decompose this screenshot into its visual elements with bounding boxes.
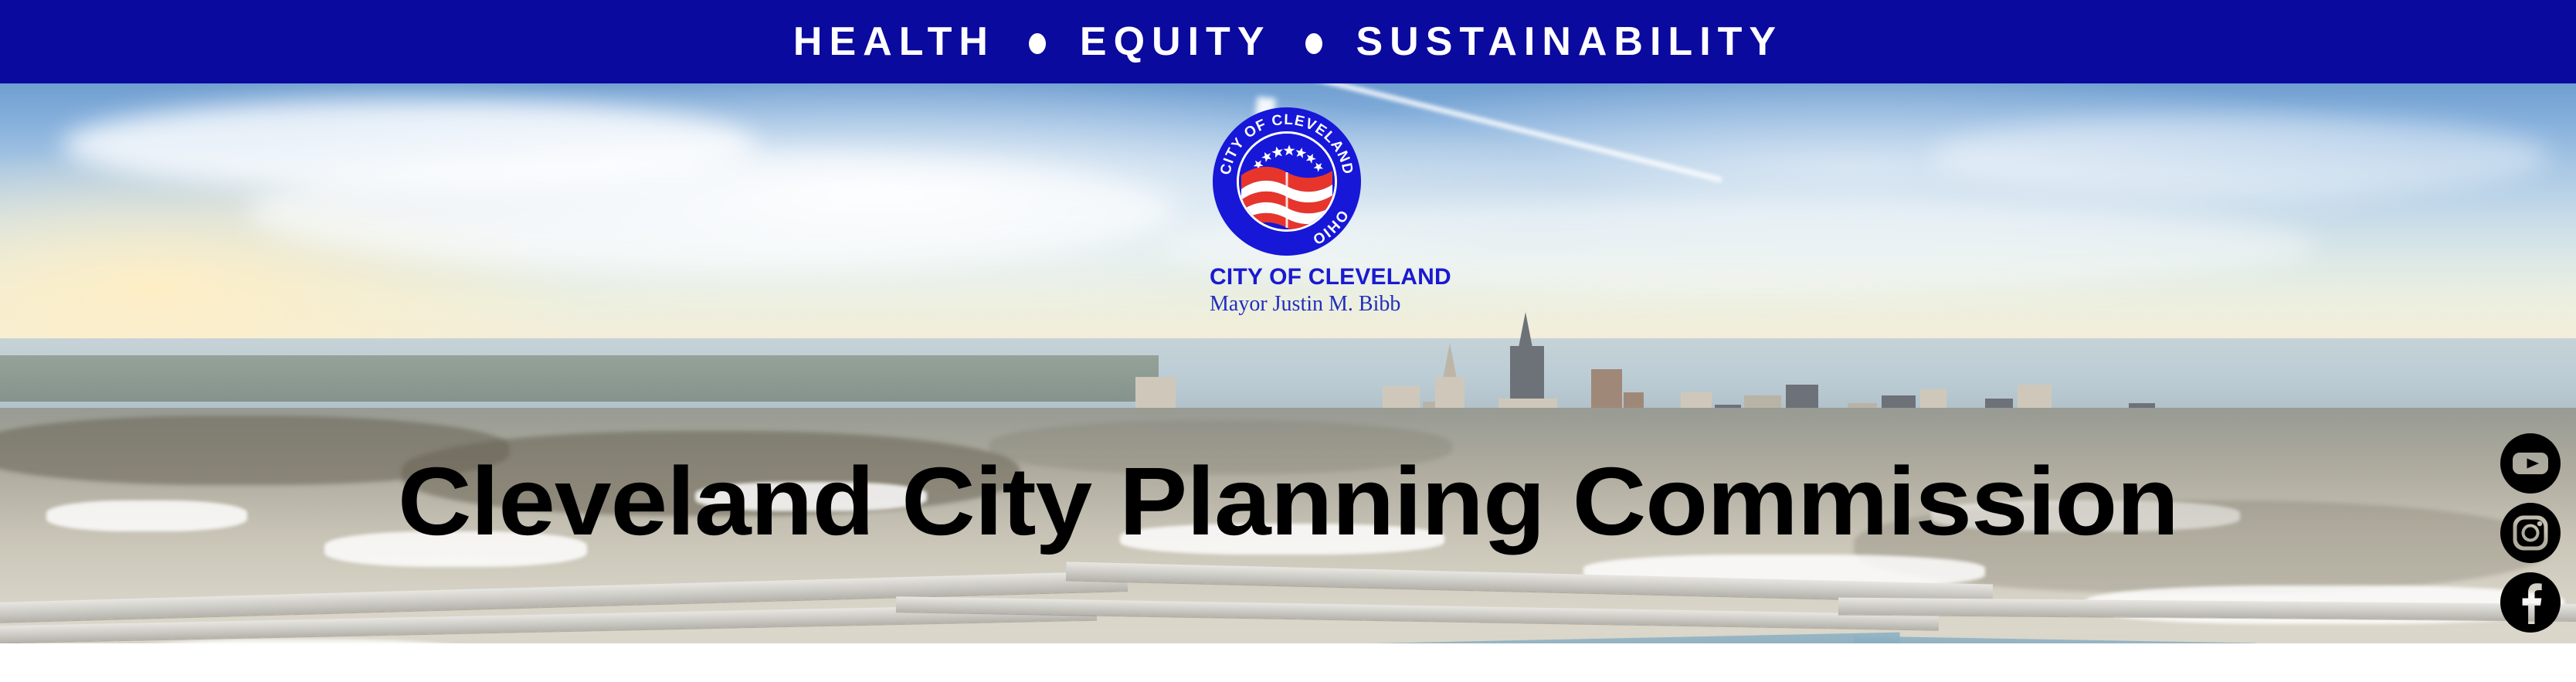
facebook-link[interactable] bbox=[2500, 572, 2561, 633]
page-title: Cleveland City Planning Commission bbox=[0, 453, 2576, 550]
youtube-link[interactable] bbox=[2500, 433, 2561, 494]
tagline-dot-icon bbox=[1305, 33, 1322, 54]
city-of-cleveland-seal-icon: CITY OF CLEVELAND OHIO bbox=[1210, 104, 1364, 259]
mayor-name: Mayor Justin M. Bibb bbox=[1210, 293, 1364, 315]
tagline-word-health: HEALTH bbox=[792, 22, 996, 62]
social-links bbox=[2500, 433, 2563, 641]
page-root: HEALTH EQUITY SUSTAINABILITY bbox=[0, 0, 2576, 682]
city-branding: CITY OF CLEVELAND OHIO CITY OF CLEVELAND… bbox=[1210, 104, 1364, 315]
cloud bbox=[247, 153, 1174, 269]
tagline-banner: HEALTH EQUITY SUSTAINABILITY bbox=[0, 0, 2576, 83]
organization-name: CITY OF CLEVELAND bbox=[1210, 265, 1364, 290]
footer-whitespace bbox=[0, 643, 2576, 682]
tagline-word-equity: EQUITY bbox=[1078, 22, 1273, 62]
tagline-dot-icon bbox=[1029, 33, 1046, 54]
instagram-link[interactable] bbox=[2500, 502, 2561, 564]
tagline-word-sustainability: SUSTAINABILITY bbox=[1355, 22, 1785, 62]
hero-photo: CITY OF CLEVELAND OHIO CITY OF CLEVELAND… bbox=[0, 83, 2576, 643]
tagline-text: HEALTH EQUITY SUSTAINABILITY bbox=[792, 22, 1784, 62]
cloud bbox=[1931, 114, 2549, 199]
